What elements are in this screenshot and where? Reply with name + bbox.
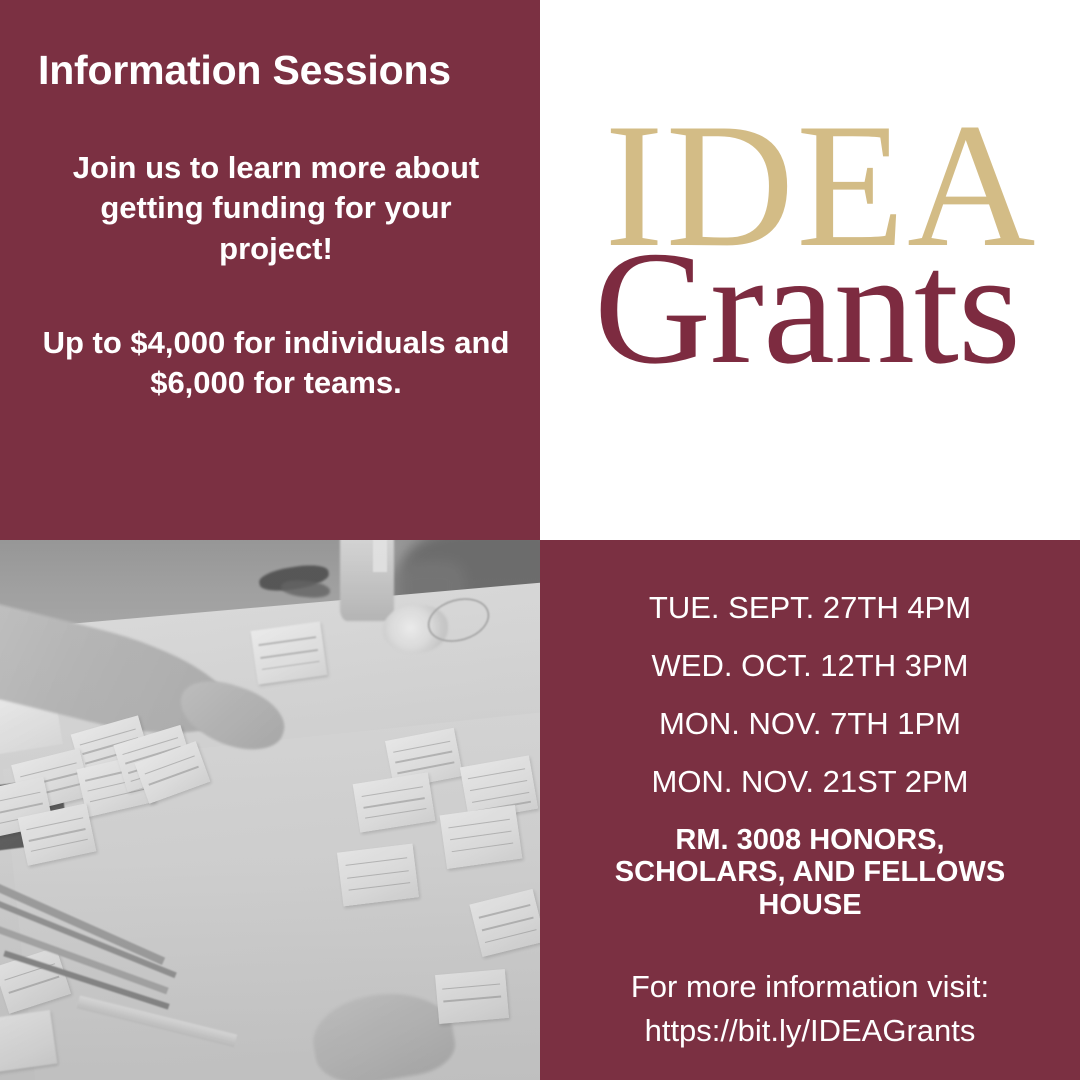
poster-canvas: Information Sessions Join us to learn mo… [0, 0, 1080, 1080]
idea-grants-logo: IDEA Grants [540, 0, 1080, 540]
logo-word-grants: Grants [562, 228, 1052, 390]
session-date-item: TUE. SEPT. 27TH 4PM [562, 592, 1058, 650]
funding-amounts-text: Up to $4,000 for individuals and $6,000 … [38, 323, 514, 404]
photo-bottle-neck [373, 540, 387, 572]
more-information-block: For more information visit: https://bit.… [562, 965, 1058, 1053]
top-left-copy: Information Sessions Join us to learn mo… [38, 48, 514, 403]
session-date-item: MON. NOV. 7TH 1PM [562, 708, 1058, 766]
page-title: Information Sessions [38, 48, 514, 94]
photo-panel [0, 540, 540, 1080]
photo-sticky-note [0, 1010, 57, 1074]
photo-sticky-note [439, 805, 521, 869]
logo-panel: IDEA Grants [540, 0, 1080, 540]
intro-text: Join us to learn more about getting fund… [38, 148, 514, 269]
session-date-item: MON. NOV. 21ST 2PM [562, 766, 1058, 797]
photo-sticky-note [250, 622, 327, 685]
venue-location-text: RM. 3008 HONORS, SCHOLARS, AND FELLOWS H… [562, 824, 1058, 921]
more-information-label: For more information visit: [631, 969, 989, 1004]
session-date-list: TUE. SEPT. 27TH 4PM WED. OCT. 12TH 3PM M… [562, 592, 1058, 797]
session-date-item: WED. OCT. 12TH 3PM [562, 650, 1058, 708]
workshop-photo [0, 540, 540, 1080]
details-content: TUE. SEPT. 27TH 4PM WED. OCT. 12TH 3PM M… [562, 592, 1058, 1053]
top-left-panel: Information Sessions Join us to learn mo… [0, 0, 540, 540]
info-url-link[interactable]: https://bit.ly/IDEAGrants [562, 1009, 1058, 1053]
photo-sticky-note [337, 843, 419, 906]
details-panel: TUE. SEPT. 27TH 4PM WED. OCT. 12TH 3PM M… [540, 540, 1080, 1080]
photo-sticky-note [435, 969, 509, 1024]
